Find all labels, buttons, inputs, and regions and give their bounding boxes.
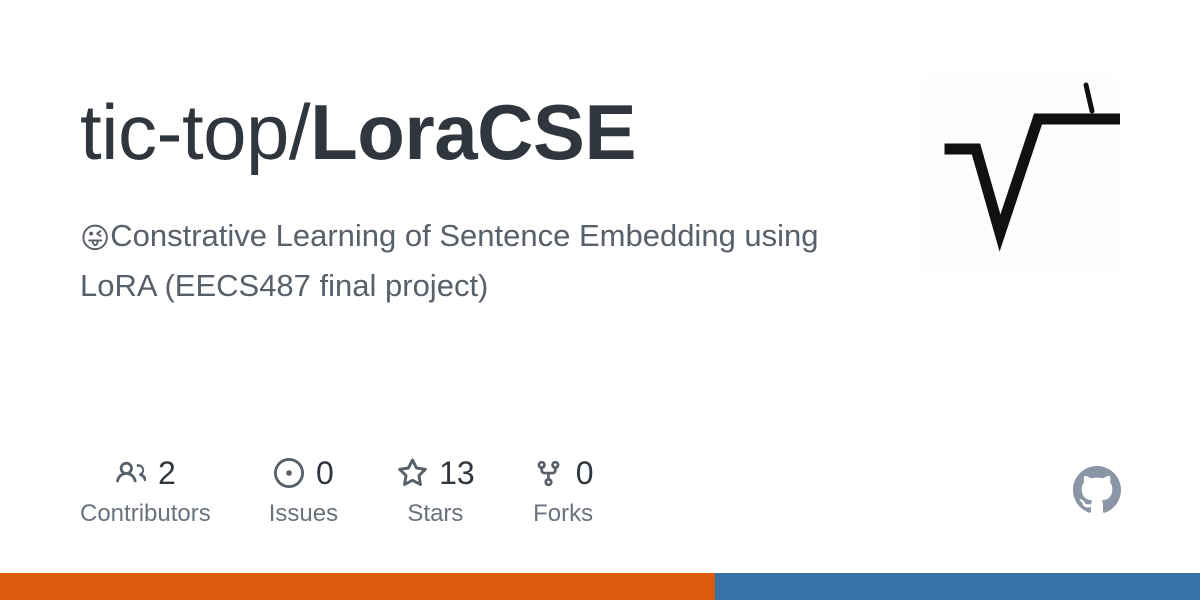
repo-owner: tic-top/: [80, 88, 310, 176]
stat-issues: 0 Issues: [269, 452, 338, 526]
language-segment-jupyter-notebook: [0, 573, 715, 600]
stat-forks-value: 0: [576, 457, 594, 489]
repo-description: 😜Constrative Learning of Sentence Embedd…: [80, 212, 870, 310]
language-bar: [0, 573, 1200, 600]
github-mark-icon: [1073, 466, 1121, 514]
stat-forks-top: 0: [533, 452, 594, 494]
stat-contributors: 2 Contributors: [80, 452, 211, 526]
repo-description-text: Constrative Learning of Sentence Embeddi…: [80, 218, 819, 303]
stat-stars-top: 13: [396, 452, 475, 494]
stat-stars-value: 13: [439, 457, 475, 489]
stat-issues-top: 0: [273, 452, 334, 494]
stat-issues-value: 0: [316, 457, 334, 489]
stat-forks: 0 Forks: [533, 452, 594, 526]
stat-contributors-label: Contributors: [80, 502, 211, 526]
repo-name: LoraCSE: [310, 88, 636, 176]
repo-stats: 2 Contributors 0 Issues: [80, 452, 594, 526]
winking-face-tongue-emoji-icon: 😜: [80, 221, 110, 255]
stat-contributors-value: 2: [158, 457, 176, 489]
stat-stars-label: Stars: [407, 502, 463, 526]
issue-opened-icon: [273, 457, 305, 489]
stat-issues-label: Issues: [269, 502, 338, 526]
repo-avatar: [920, 75, 1120, 275]
star-icon: [396, 457, 428, 489]
language-segment-python: [715, 573, 1200, 600]
stat-contributors-top: 2: [115, 452, 176, 494]
square-root-symbol-icon: [920, 75, 1120, 275]
stat-stars: 13 Stars: [396, 452, 475, 526]
repo-forked-icon: [533, 457, 565, 489]
stat-forks-label: Forks: [533, 502, 593, 526]
people-icon: [115, 457, 147, 489]
repo-social-preview-card: tic-top/LoraCSE 😜Constrative Learning of…: [0, 0, 1200, 600]
page-title: tic-top/LoraCSE: [80, 92, 636, 174]
